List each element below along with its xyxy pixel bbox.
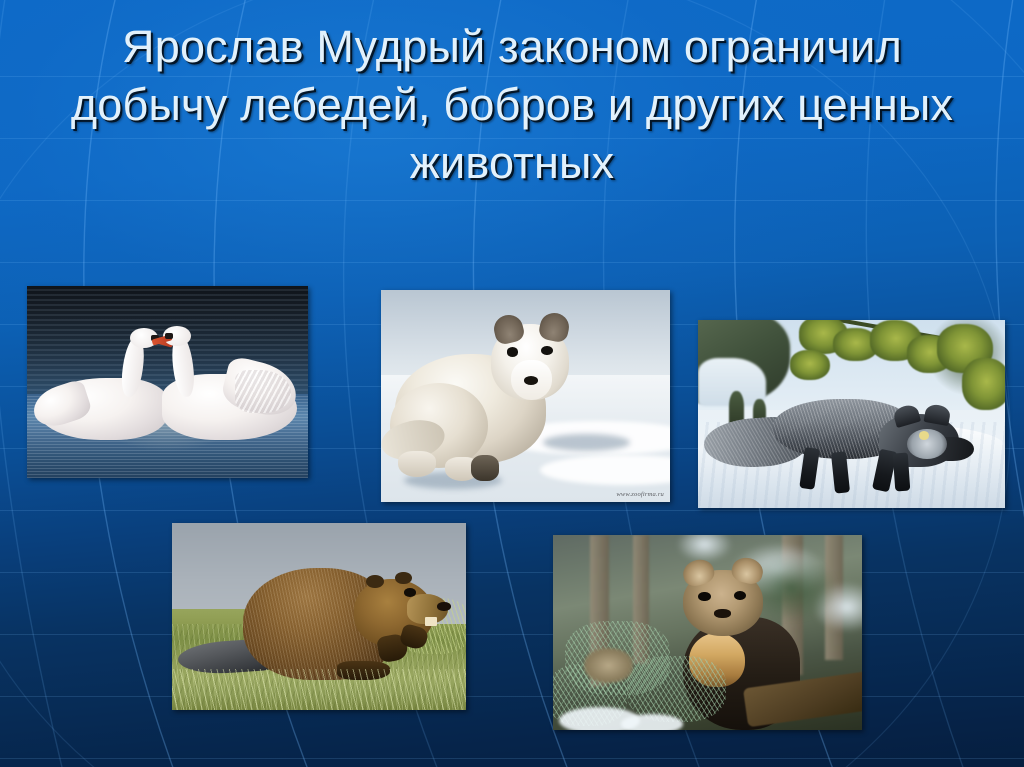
photo-marten[interactable] [553,535,862,730]
photo-swans[interactable] [27,286,308,478]
photo-watermark: www.zoofirma.ru [616,491,664,498]
photo-silver-fox[interactable] [698,320,1005,508]
photo-beaver[interactable] [172,523,466,710]
slide-canvas: Ярослав Мудрый законом ограничил добычу … [0,0,1024,767]
photo-arctic-fox[interactable]: www.zoofirma.ru [381,290,670,502]
slide-title: Ярослав Мудрый законом ограничил добычу … [60,18,964,192]
